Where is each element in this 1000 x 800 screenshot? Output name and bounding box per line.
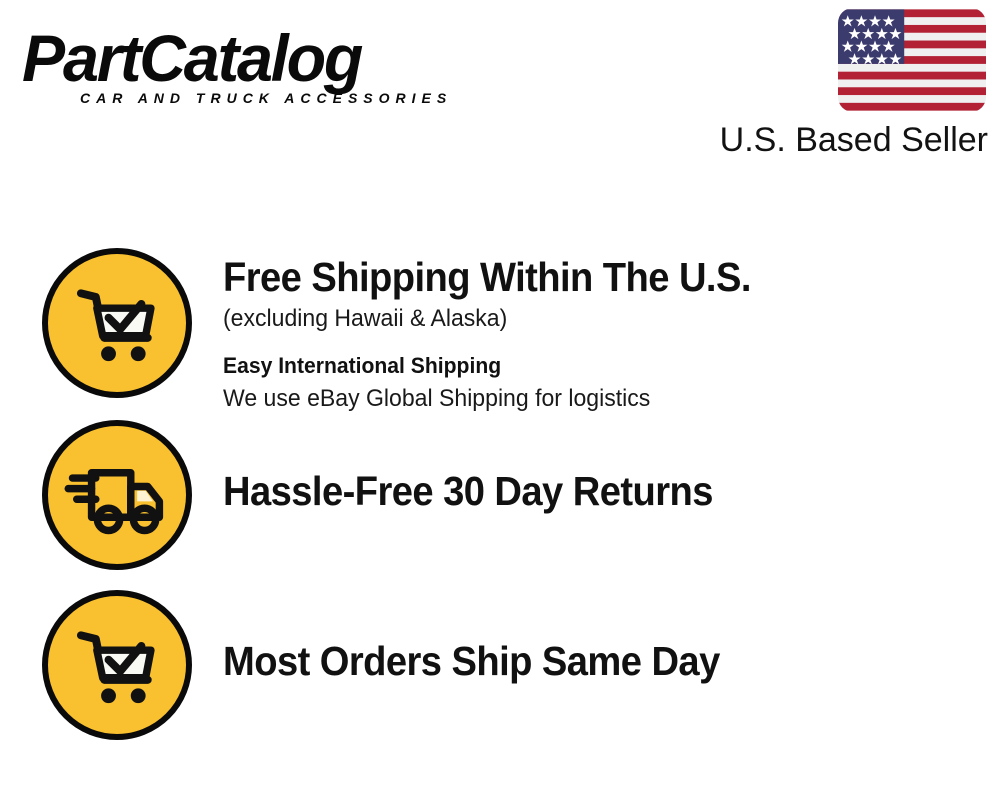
feature-row: Most Orders Ship Same Day <box>0 590 1000 740</box>
feature-text-block: Hassle-Free 30 Day Returns <box>223 420 1000 516</box>
feature-title: Hassle-Free 30 Day Returns <box>223 466 946 516</box>
delivery-truck-icon <box>42 420 192 570</box>
feature-row: Free Shipping Within The U.S. (excluding… <box>0 248 1000 415</box>
feature-text-block: Free Shipping Within The U.S. (excluding… <box>223 248 1000 415</box>
us-based-seller-block: U.S. Based Seller <box>708 8 988 160</box>
us-based-seller-label: U.S. Based Seller <box>708 121 988 160</box>
shopping-cart-check-icon <box>42 248 192 398</box>
feature-subtitle: (excluding Hawaii & Alaska) <box>223 302 969 335</box>
feature-sub-detail: We use eBay Global Shipping for logistic… <box>223 382 969 415</box>
feature-title: Most Orders Ship Same Day <box>223 636 946 686</box>
us-flag-icon <box>838 8 986 112</box>
promo-banner: PartCatalog CAR AND TRUCK ACCESSORIES <box>0 0 1000 800</box>
feature-text-block: Most Orders Ship Same Day <box>223 590 1000 686</box>
shopping-cart-check-icon <box>42 590 192 740</box>
brand-wordmark: PartCatalog <box>22 22 483 94</box>
brand-logo: PartCatalog CAR AND TRUCK ACCESSORIES <box>22 22 492 117</box>
feature-row: Hassle-Free 30 Day Returns <box>0 420 1000 570</box>
feature-sub-heading: Easy International Shipping <box>223 350 969 382</box>
feature-title: Free Shipping Within The U.S. <box>223 252 946 302</box>
